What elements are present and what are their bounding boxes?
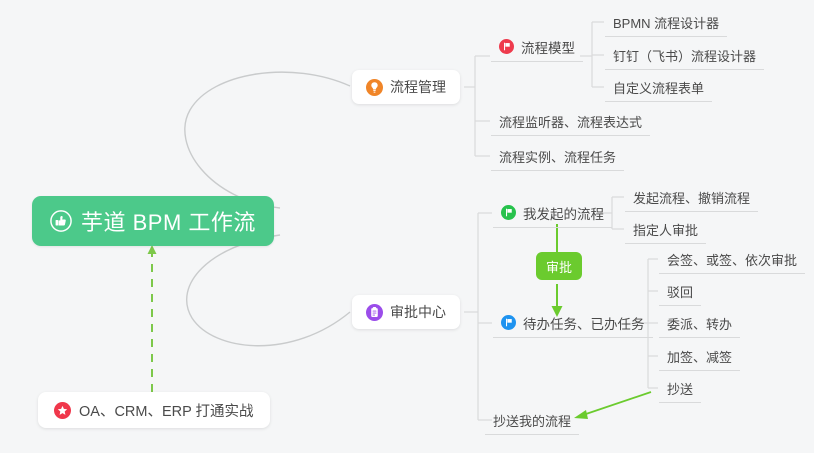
- branch-node-approval-center[interactable]: 审批中心: [352, 295, 460, 329]
- leaf-add-remove-sign[interactable]: 加签、减签: [659, 345, 740, 371]
- link-root-to-approval-center: [187, 235, 350, 346]
- lightbulb-icon: [366, 79, 383, 96]
- branch-label-process-management: 流程管理: [390, 77, 446, 97]
- leaf-start-cancel-process[interactable]: 发起流程、撤销流程: [625, 186, 758, 212]
- leaf-label: 自定义流程表单: [613, 78, 704, 97]
- leaf-label: 流程监听器、流程表达式: [499, 112, 642, 131]
- flag-icon: [501, 205, 516, 220]
- leaf-assignee-approval[interactable]: 指定人审批: [625, 218, 706, 244]
- leaf-cc[interactable]: 抄送: [659, 377, 701, 403]
- float-label-oa-crm-erp: OA、CRM、ERP 打通实战: [79, 400, 254, 421]
- leaf-reject[interactable]: 驳回: [659, 280, 701, 306]
- root-label: 芋道 BPM 工作流: [81, 205, 256, 237]
- leaf-label: 流程实例、流程任务: [499, 147, 616, 166]
- flag-icon: [499, 39, 514, 54]
- dashed-link-arrowhead: [148, 245, 157, 254]
- leaf-cc-my-process[interactable]: 抄送我的流程: [485, 409, 579, 435]
- leaf-label: 加签、减签: [667, 347, 732, 366]
- leaf-custom-form[interactable]: 自定义流程表单: [605, 76, 712, 102]
- link-root-to-process-management: [185, 72, 350, 208]
- float-node-oa-crm-erp[interactable]: OA、CRM、ERP 打通实战: [38, 392, 270, 428]
- leaf-process-listener-expression[interactable]: 流程监听器、流程表达式: [491, 110, 650, 136]
- leaf-label: 委派、转办: [667, 314, 732, 333]
- leaf-label: 驳回: [667, 282, 693, 301]
- leaf-label: 指定人审批: [633, 220, 698, 239]
- branch-label-approval-center: 审批中心: [390, 302, 446, 322]
- flag-icon: [501, 315, 516, 330]
- topic-process-model[interactable]: 流程模型: [491, 35, 583, 62]
- thumbs-up-icon: [50, 210, 72, 232]
- leaf-label: 钉钉（飞书）流程设计器: [613, 46, 756, 65]
- leaf-label: 会签、或签、依次审批: [667, 250, 797, 269]
- approve-chip[interactable]: 审批: [536, 252, 582, 280]
- mindmap-canvas: 芋道 BPM 工作流 流程管理 审批中心: [0, 0, 814, 453]
- topic-todo-done-tasks[interactable]: 待办任务、已办任务: [493, 311, 653, 338]
- leaf-delegate-transfer[interactable]: 委派、转办: [659, 312, 740, 338]
- leaf-process-instance-task[interactable]: 流程实例、流程任务: [491, 145, 624, 171]
- leaf-dingtalk-feishu-designer[interactable]: 钉钉（飞书）流程设计器: [605, 44, 764, 70]
- topic-label-my-started-process: 我发起的流程: [523, 203, 604, 223]
- leaf-label: 发起流程、撤销流程: [633, 188, 750, 207]
- topic-label-todo-done-tasks: 待办任务、已办任务: [523, 313, 645, 333]
- topic-my-started-process[interactable]: 我发起的流程: [493, 201, 612, 228]
- approve-chip-label: 审批: [546, 257, 572, 276]
- leaf-label: BPMN 流程设计器: [613, 13, 719, 32]
- leaf-label: 抄送: [667, 379, 693, 398]
- topic-label-process-model: 流程模型: [521, 37, 575, 57]
- star-icon: [54, 402, 71, 419]
- root-node[interactable]: 芋道 BPM 工作流: [32, 196, 274, 246]
- leaf-bpmn-designer[interactable]: BPMN 流程设计器: [605, 11, 727, 37]
- branch-node-process-management[interactable]: 流程管理: [352, 70, 460, 104]
- arrow-cc-line: [583, 392, 651, 415]
- clipboard-icon: [366, 304, 383, 321]
- leaf-countersign-orsign-sequential[interactable]: 会签、或签、依次审批: [659, 248, 805, 274]
- leaf-label: 抄送我的流程: [493, 411, 571, 430]
